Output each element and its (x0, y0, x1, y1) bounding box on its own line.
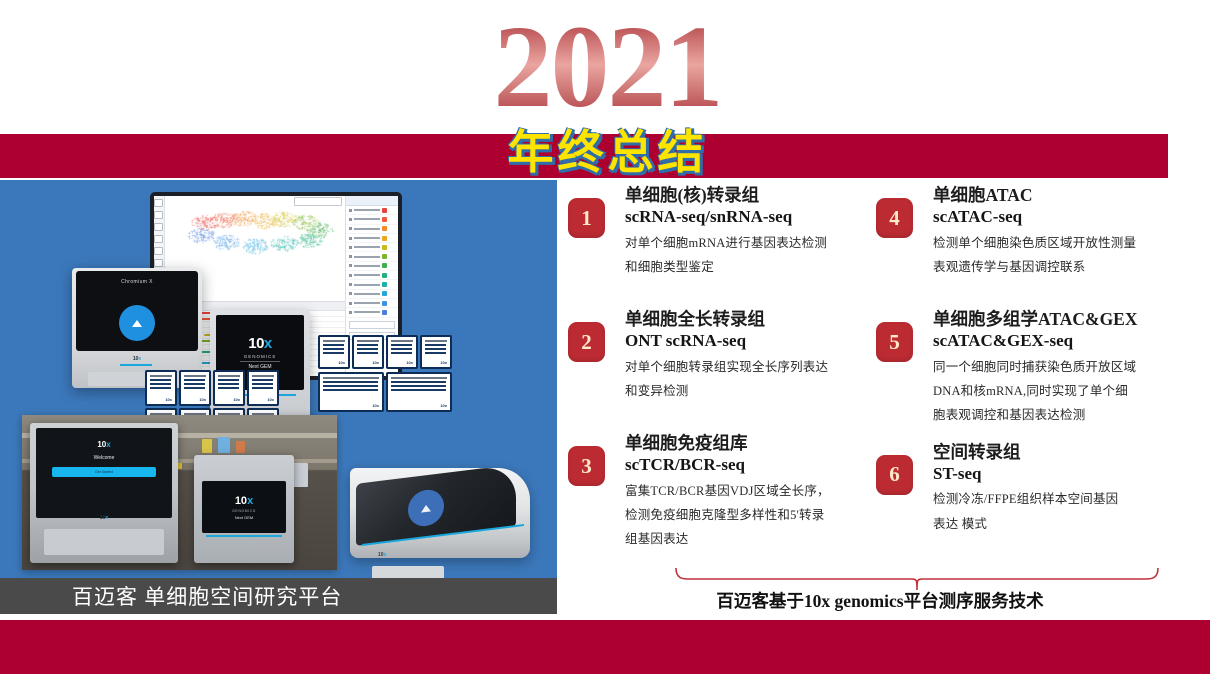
reagent-kit-box: 10x (386, 335, 418, 369)
cluster-label (354, 284, 380, 286)
service-item-body: 单细胞多组学ATAC&GEXscATAC&GEX-seq同一个细胞同时捕获染色质… (933, 309, 1173, 428)
service-item-description-line: 表观遗传学与基因调控联系 (933, 255, 1173, 279)
cluster-checkbox-icon (349, 209, 352, 212)
footer-note: 百迈客基于10x genomics平台测序服务技术 (560, 588, 1200, 613)
cluster-checkbox-icon (349, 255, 352, 258)
cluster-color-swatch (382, 236, 387, 241)
service-item-description: 富集TCR/BCR基因VDJ区域全长序，检测免疫细胞克隆型多样性和5'转录组基因… (625, 479, 865, 552)
legend-option-1 (349, 321, 395, 329)
service-item-description: 检测冷冻/FFPE组织样本空间基因表达 模式 (933, 487, 1173, 536)
service-item-number-badge: 2 (568, 322, 605, 362)
service-item-description-line: 检测免疫细胞克隆型多样性和5'转录 (625, 503, 865, 527)
cluster-checkbox-icon (349, 218, 352, 221)
service-item-description: 检测单个细胞染色质区域开放性测量表观遗传学与基因调控联系 (933, 231, 1173, 280)
service-item-title-cn: 单细胞ATAC (933, 185, 1173, 206)
next-gem-genomics-label: GENOMICS (244, 354, 277, 359)
service-item[interactable]: 2单细胞全长转录组ONT scRNA-seq对单个细胞转录组实现全长序列表达和变… (565, 309, 865, 419)
cluster-checkbox-icon (349, 246, 352, 249)
eject-button-icon (119, 305, 155, 341)
service-item[interactable]: 3单细胞免疫组库scTCR/BCR-seq富集TCR/BCR基因VDJ区域全长序… (565, 433, 865, 552)
cluster-legend-item (346, 308, 398, 317)
lab-nextgem-genomics-label: GENOMICS (232, 509, 256, 513)
service-item-description-line: 对单个细胞mRNA进行基因表达检测 (625, 231, 865, 255)
cluster-legend-item (346, 243, 398, 252)
chromium-brand-logo: 10x (133, 356, 141, 362)
cluster-legend-item (346, 225, 398, 234)
rendered-instrument: 10x (340, 418, 540, 570)
service-item-description-line: 胞表观调控和基因表达检测 (933, 403, 1173, 427)
reagent-kit-box: 10x (420, 335, 452, 369)
service-item-title-en: scTCR/BCR-seq (625, 454, 865, 475)
reagent-kit-box: 10x (145, 370, 177, 406)
service-item-description: 对单个细胞转录组实现全长序列表达和变异检测 (625, 355, 865, 404)
cluster-checkbox-icon (349, 311, 352, 314)
service-item-number-badge: 6 (876, 455, 913, 495)
page-subtitle: 年终总结 (0, 128, 1215, 179)
lab-photo: 10x Welcome Get Started 10x 10x GENOMICS… (22, 415, 337, 570)
cluster-color-swatch (382, 291, 387, 296)
next-gem-10x-logo: 10x (248, 335, 272, 352)
welcome-label: Welcome (94, 455, 115, 461)
cluster-color-swatch (382, 254, 387, 259)
service-item-number-badge: 3 (568, 446, 605, 486)
footer-red-band (0, 620, 1210, 674)
cluster-checkbox-icon (349, 302, 352, 305)
service-item-body: 单细胞(核)转录组scRNA-seq/snRNA-seq对单个细胞mRNA进行基… (625, 185, 865, 279)
cluster-legend-header (346, 196, 398, 206)
cluster-color-swatch (382, 282, 387, 287)
cluster-label (354, 256, 380, 258)
service-column-right: 4单细胞ATACscATAC-seq检测单个细胞染色质区域开放性测量表观遗传学与… (873, 185, 1173, 552)
service-item-description-line: 同一个细胞同时捕获染色质开放区域 (933, 355, 1173, 379)
cluster-checkbox-icon (349, 274, 352, 277)
cluster-checkbox-icon (349, 283, 352, 286)
service-item-number-badge: 4 (876, 198, 913, 238)
service-item-title-cn: 单细胞多组学ATAC&GEX (933, 309, 1173, 330)
reagent-kit-box: 10x (318, 335, 350, 369)
service-item-description: 同一个细胞同时捕获染色质开放区域DNA和核mRNA,同时实现了单个细胞表观调控和… (933, 355, 1173, 428)
service-item-body: 单细胞全长转录组ONT scRNA-seq对单个细胞转录组实现全长序列表达和变异… (625, 309, 865, 403)
service-item-title-cn: 单细胞(核)转录组 (625, 185, 865, 206)
reagent-kit-box: 10x (386, 372, 452, 412)
cluster-label (354, 293, 380, 295)
chromium-x-screen: Chromium X (76, 271, 198, 351)
reagent-kit-box: 10x (179, 370, 211, 406)
cluster-checkbox-icon (349, 264, 352, 267)
chromium-x-label: Chromium X (76, 271, 198, 285)
cluster-legend-item (346, 206, 398, 215)
cluster-checkbox-icon (349, 227, 352, 230)
cluster-checkbox-icon (349, 237, 352, 240)
service-item-description: 对单个细胞mRNA进行基因表达检测和细胞类型鉴定 (625, 231, 865, 280)
cluster-legend-item (346, 271, 398, 280)
image-caption-text: 百迈客 单细胞空间研究平台 (0, 581, 342, 611)
service-item-body: 单细胞免疫组库scTCR/BCR-seq富集TCR/BCR基因VDJ区域全长序，… (625, 433, 865, 552)
service-item-description-line: 检测单个细胞染色质区域开放性测量 (933, 231, 1173, 255)
service-column-left: 1单细胞(核)转录组scRNA-seq/snRNA-seq对单个细胞mRNA进行… (565, 185, 865, 552)
cluster-color-swatch (382, 208, 387, 213)
service-item-description-line: 和变异检测 (625, 379, 865, 403)
service-item-body: 空间转录组ST-seq检测冷冻/FFPE组织样本空间基因表达 模式 (933, 442, 1173, 536)
cluster-color-swatch (382, 273, 387, 278)
cluster-label (354, 311, 380, 313)
reagent-kit-box: 10x (318, 372, 384, 412)
cluster-color-swatch (382, 310, 387, 315)
service-items-grid: 1单细胞(核)转录组scRNA-seq/snRNA-seq对单个细胞mRNA进行… (560, 185, 1215, 585)
cluster-label (354, 209, 380, 211)
cluster-label (354, 246, 380, 248)
reagent-kit-box: 10x (247, 370, 279, 406)
service-item-description-line: 对单个细胞转录组实现全长序列表达 (625, 355, 865, 379)
cluster-legend-item (346, 262, 398, 271)
service-item-description-line: 和细胞类型鉴定 (625, 255, 865, 279)
reagent-kit-box: 10x (352, 335, 384, 369)
cluster-legend-item (346, 280, 398, 289)
cluster-label (354, 228, 380, 230)
cluster-checkbox-icon (349, 292, 352, 295)
service-item[interactable]: 5单细胞多组学ATAC&GEXscATAC&GEX-seq同一个细胞同时捕获染色… (873, 309, 1173, 428)
service-item-title-en: ONT scRNA-seq (625, 330, 865, 351)
cluster-legend-item (346, 299, 398, 308)
cluster-legend-item (346, 290, 398, 299)
service-item-description-line: 富集TCR/BCR基因VDJ区域全长序， (625, 479, 865, 503)
service-item-title-en: scRNA-seq/snRNA-seq (625, 206, 865, 227)
cluster-label (354, 237, 380, 239)
cluster-color-swatch (382, 263, 387, 268)
product-image-panel: Chromium X 10x 10x GENOMICS Next GEM 10x… (0, 180, 557, 578)
lab-nextgem-model-label: Next GEM (235, 515, 253, 520)
service-item-title-en: scATAC&GEX-seq (933, 330, 1173, 351)
cluster-legend-list (346, 206, 398, 318)
service-item-description-line: 检测冷冻/FFPE组织样本空间基因 (933, 487, 1173, 511)
service-item-title-en: ST-seq (933, 463, 1173, 484)
umap-projection-select (294, 197, 342, 206)
cluster-color-swatch (382, 301, 387, 306)
service-item[interactable]: 6空间转录组ST-seq检测冷冻/FFPE组织样本空间基因表达 模式 (873, 442, 1173, 552)
service-item-title-cn: 空间转录组 (933, 442, 1173, 463)
service-item-title-cn: 单细胞全长转录组 (625, 309, 865, 330)
service-item-description-line: 表达 模式 (933, 512, 1173, 536)
service-item-body: 单细胞ATACscATAC-seq检测单个细胞染色质区域开放性测量表观遗传学与基… (933, 185, 1173, 279)
reagent-kit-grid-right-top: 10x 10x 10x 10x (318, 335, 452, 369)
cluster-label (354, 274, 380, 276)
image-caption-bar: 百迈客 单细胞空间研究平台 (0, 578, 557, 614)
cluster-legend-item (346, 215, 398, 224)
lab-instrument-front: 10x Welcome Get Started 10x (30, 423, 178, 563)
cluster-label (354, 302, 380, 304)
cluster-legend-item (346, 234, 398, 243)
service-item-title-en: scATAC-seq (933, 206, 1173, 227)
reagent-kit-box: 10x (213, 370, 245, 406)
service-item-number-badge: 1 (568, 198, 605, 238)
service-item-title-cn: 单细胞免疫组库 (625, 433, 865, 454)
cluster-color-swatch (382, 217, 387, 222)
page-title-year: 2021 (0, 8, 1215, 126)
service-item-number-badge: 5 (876, 322, 913, 362)
cluster-label (354, 265, 380, 267)
service-item-description-line: 组基因表达 (625, 527, 865, 551)
service-item[interactable]: 1单细胞(核)转录组scRNA-seq/snRNA-seq对单个细胞mRNA进行… (565, 185, 865, 295)
service-item-description-line: DNA和核mRNA,同时实现了单个细 (933, 379, 1173, 403)
cluster-label (354, 218, 380, 220)
cluster-legend-item (346, 252, 398, 261)
get-started-button: Get Started (52, 467, 156, 477)
reagent-kit-grid-right-bottom: 10x 10x (318, 372, 452, 412)
cluster-color-swatch (382, 226, 387, 231)
cluster-color-swatch (382, 245, 387, 250)
lab-instrument-next-gem: 10x GENOMICS Next GEM (194, 455, 294, 563)
service-item[interactable]: 4单细胞ATACscATAC-seq检测单个细胞染色质区域开放性测量表观遗传学与… (873, 185, 1173, 295)
get-started-label: Get Started (95, 470, 113, 474)
